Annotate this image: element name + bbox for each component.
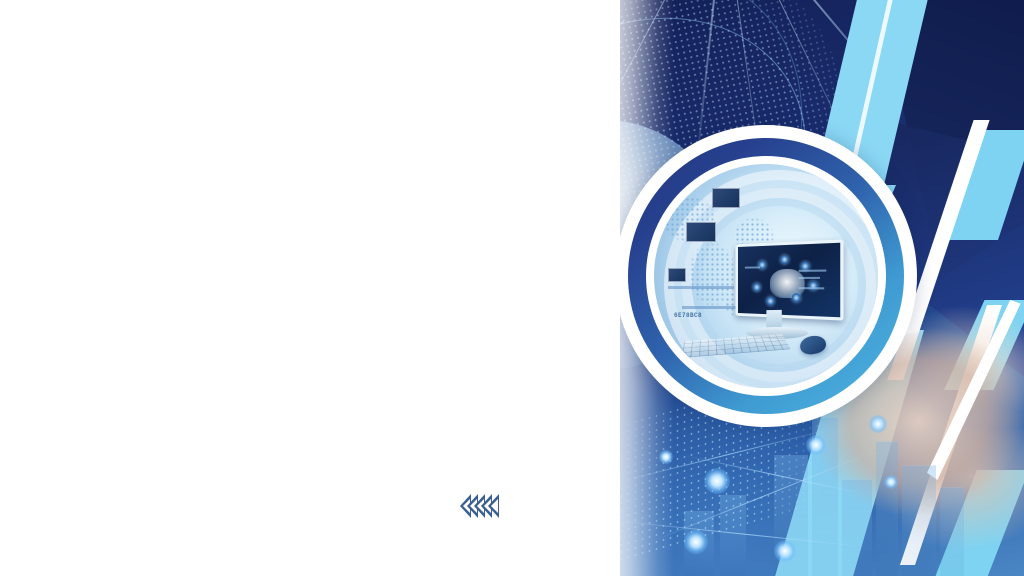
data-bar-decoration [682,306,736,309]
thumbnail-image [686,222,716,242]
monitor-text-line [798,270,826,272]
network-node-icon [684,530,708,554]
monitor-text-line [745,266,760,268]
chevron-left-icon [488,494,499,518]
text-panel [0,0,620,576]
monitor-node-icon [792,293,801,302]
chevron-group [460,494,495,518]
network-node-icon [774,540,796,562]
desktop-monitor-icon [735,239,843,320]
monitor-text-line [798,276,820,278]
network-node-icon [704,468,730,494]
monitor-node-icon [753,283,761,292]
monitor-text-line [798,287,824,289]
circular-portal-frame: 6E78BC8 [615,125,917,427]
thumbnail-image [712,188,740,208]
portal-scene: 6E78BC8 [654,164,878,388]
data-bar-decoration [668,286,734,289]
network-node-icon [884,475,898,489]
screen-label: 6E78BC8 [674,312,702,319]
monitor-node-icon [809,281,818,290]
network-node-icon [869,415,887,433]
monitor-node-icon [758,261,766,270]
network-node-icon [806,435,826,455]
monitor-node-icon [766,296,774,305]
slide-canvas: 6E78BC8 chuyển [0,0,1024,576]
thumbnail-image [668,268,686,282]
monitor-node-icon [780,255,789,264]
